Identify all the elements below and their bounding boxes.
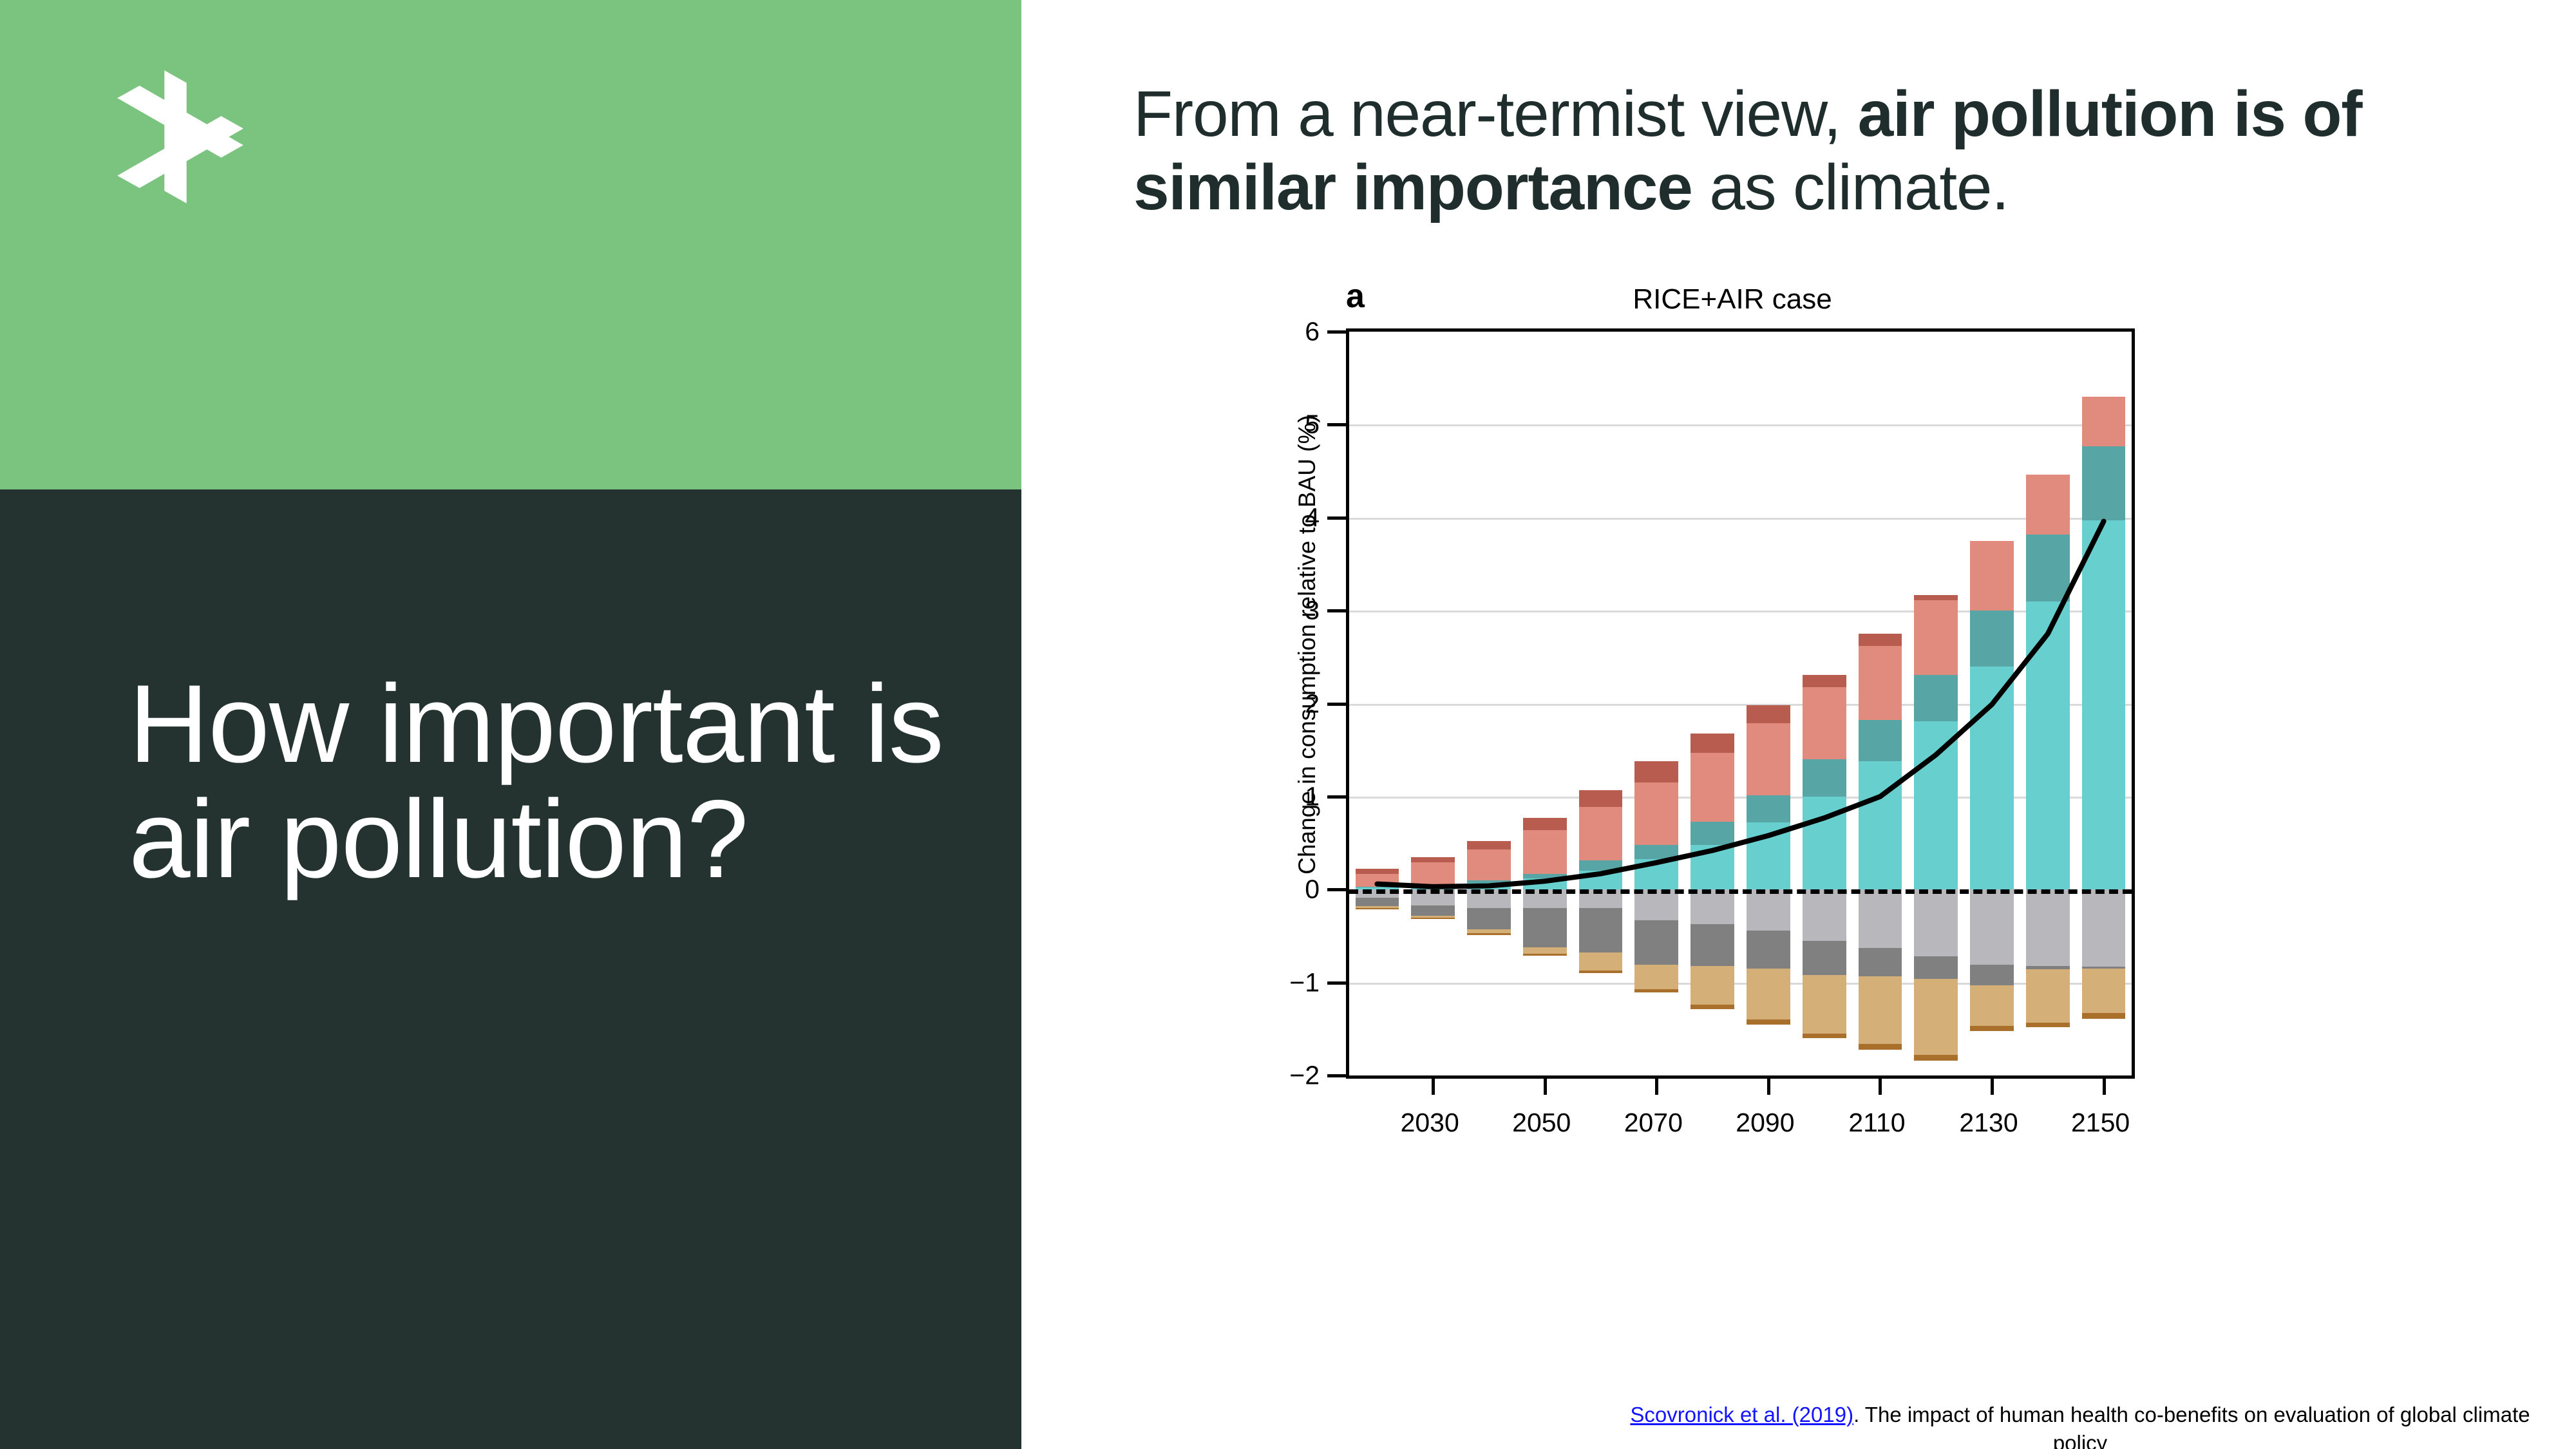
- bar-segment: [1747, 795, 1790, 822]
- bar-segment: [1690, 924, 1734, 966]
- bar-segment: [1914, 956, 1958, 979]
- y-axis-tick-label: 5: [1305, 410, 1320, 440]
- bar-segment: [2082, 446, 2126, 521]
- bar-segment: [1523, 818, 1567, 830]
- bar-segment: [1690, 734, 1734, 753]
- bar-segment: [1634, 782, 1678, 845]
- x-axis-tick: [2103, 1075, 2106, 1095]
- y-axis-tick-label: 3: [1305, 596, 1320, 626]
- bar-segment: [1467, 883, 1511, 889]
- bar-segment: [1970, 541, 2014, 611]
- y-axis-tick: [1327, 1074, 1349, 1077]
- gridline: [1349, 518, 2132, 520]
- bar-segment: [2082, 1013, 2126, 1019]
- bar-segment: [1859, 634, 1902, 646]
- bar-segment: [2026, 475, 2070, 534]
- y-axis-tick: [1327, 330, 1349, 334]
- bar-segment: [1356, 898, 1399, 906]
- bar-segment: [2026, 535, 2070, 601]
- bar-segment: [1579, 952, 1623, 970]
- bar-segment: [1803, 797, 1846, 889]
- y-axis-tick-label: 4: [1305, 502, 1320, 533]
- six-point-asterisk-logo-icon: [106, 68, 245, 206]
- bar-segment: [1747, 723, 1790, 796]
- bar-segment: [1803, 675, 1846, 687]
- y-axis-tick: [1327, 516, 1349, 520]
- figure: a RICE+AIR case Change in consumption re…: [1249, 270, 2215, 1172]
- bar-segment: [1970, 667, 2014, 890]
- bar-segment: [1747, 822, 1790, 889]
- x-axis-tick-label: 2150: [2071, 1108, 2130, 1138]
- bar-segment: [1747, 889, 1790, 931]
- bar-segment: [1859, 976, 1902, 1044]
- bar-segment: [1803, 975, 1846, 1034]
- bar-segment: [1803, 687, 1846, 760]
- y-axis-tick: [1327, 423, 1349, 426]
- bar-segment: [1634, 965, 1678, 989]
- bar-segment: [2082, 397, 2126, 446]
- bar-segment: [1467, 849, 1511, 880]
- x-axis-tick-label: 2130: [1959, 1108, 2018, 1138]
- bar-segment: [1859, 646, 1902, 721]
- headline: From a near-termist view, air pollution …: [1133, 77, 2486, 224]
- x-axis-tick: [1767, 1075, 1770, 1095]
- bar-segment: [2026, 889, 2070, 965]
- bar-segment: [1914, 721, 1958, 889]
- bar-segment: [1579, 908, 1623, 952]
- bar-segment: [1523, 874, 1567, 878]
- bar-segment: [1690, 966, 1734, 1005]
- y-axis-tick-label: 0: [1305, 875, 1320, 905]
- bar-segment: [1411, 857, 1455, 863]
- bar-segment: [1914, 1055, 1958, 1061]
- bar-segment: [1859, 720, 1902, 761]
- bar-segment: [1634, 920, 1678, 965]
- y-axis-tick-label: −1: [1289, 967, 1320, 998]
- bar-segment: [1579, 807, 1623, 861]
- headline-part2: as climate.: [1692, 151, 2009, 223]
- y-axis-tick: [1327, 703, 1349, 706]
- y-axis-tick-label: 1: [1305, 781, 1320, 811]
- y-axis-tick-label: 6: [1305, 317, 1320, 347]
- bar-segment: [1690, 845, 1734, 889]
- bar-segment: [1690, 753, 1734, 822]
- headline-part1: From a near-termist view,: [1133, 78, 1858, 150]
- bar-segment: [1859, 761, 1902, 889]
- bar-segment: [1579, 971, 1623, 973]
- x-axis-tick: [1655, 1075, 1658, 1095]
- bar-segment: [1803, 759, 1846, 797]
- bar-segment: [1914, 889, 1958, 956]
- bar-segment: [2082, 889, 2126, 967]
- bar-segment: [2082, 969, 2126, 1013]
- y-axis-tick: [1327, 795, 1349, 799]
- bar-segment: [1970, 965, 2014, 985]
- bar-segment: [1579, 790, 1623, 807]
- gridline: [1349, 611, 2132, 612]
- x-axis-tick-label: 2110: [1848, 1108, 1905, 1138]
- y-axis-tick: [1327, 609, 1349, 612]
- bar-segment: [1634, 989, 1678, 993]
- chart-title: RICE+AIR case: [1249, 283, 2215, 316]
- bar-segment: [2026, 1023, 2070, 1027]
- citation-text: . The impact of human health co-benefits…: [1853, 1403, 2530, 1449]
- x-axis-tick: [1544, 1075, 1547, 1095]
- slide: How important is air pollution? From a n…: [0, 0, 2576, 1449]
- bar-segment: [1747, 969, 1790, 1019]
- bar-segment: [1859, 1044, 1902, 1050]
- y-axis-tick: [1327, 888, 1349, 891]
- x-axis-tick-label: 2050: [1512, 1108, 1571, 1138]
- bar-segment: [1411, 905, 1455, 916]
- bar-segment: [1356, 887, 1399, 887]
- bar-segment: [1579, 871, 1623, 889]
- x-axis-tick-label: 2090: [1736, 1108, 1794, 1138]
- x-axis-tick: [1879, 1075, 1882, 1095]
- bar-segment: [1579, 860, 1623, 871]
- bar-segment: [1356, 869, 1399, 873]
- gridline: [1349, 983, 2132, 985]
- bar-segment: [1690, 889, 1734, 923]
- bar-segment: [1411, 918, 1455, 920]
- page-title: How important is air pollution?: [129, 667, 966, 897]
- bar-segment: [1970, 985, 2014, 1027]
- bar-segment: [1523, 908, 1567, 947]
- bar-segment: [1467, 880, 1511, 883]
- sidebar-dark-band: [0, 489, 1021, 1449]
- bar-segment: [1747, 705, 1790, 723]
- bar-segment: [1970, 889, 2014, 965]
- bar-segment: [1356, 908, 1399, 909]
- bar-segment: [1356, 874, 1399, 887]
- bar-segment: [2026, 601, 2070, 890]
- x-axis-tick-label: 2030: [1401, 1108, 1459, 1138]
- bar-segment: [1914, 600, 1958, 675]
- x-axis-tick-label: 2070: [1624, 1108, 1683, 1138]
- bar-segment: [1523, 947, 1567, 954]
- bar-segment: [1914, 595, 1958, 601]
- bar-segment: [1859, 889, 1902, 948]
- bar-segment: [1747, 931, 1790, 969]
- bar-segment: [1803, 1034, 1846, 1038]
- citation: Scovronick et al. (2019). The impact of …: [1629, 1401, 2531, 1449]
- bar-segment: [2026, 969, 2070, 1022]
- bar-segment: [1523, 830, 1567, 874]
- bar-segment: [1803, 941, 1846, 975]
- y-axis-tick-label: 2: [1305, 688, 1320, 719]
- bar-segment: [1634, 889, 1678, 920]
- bar-segment: [1970, 611, 2014, 667]
- bar-segment: [1803, 889, 1846, 940]
- plot-area: 6543210−1−2: [1346, 328, 2135, 1079]
- bar-segment: [1914, 675, 1958, 721]
- gridline: [1349, 704, 2132, 706]
- bar-segment: [1467, 933, 1511, 935]
- bar-segment: [1634, 859, 1678, 890]
- x-axis-tick: [1991, 1075, 1994, 1095]
- bar-segment: [1859, 948, 1902, 976]
- bar-segment: [1467, 908, 1511, 929]
- sidebar: How important is air pollution?: [0, 0, 1021, 1449]
- bar-segment: [1970, 1026, 2014, 1030]
- bar-segment: [1411, 884, 1455, 886]
- gridline: [1349, 424, 2132, 426]
- citation-link[interactable]: Scovronick et al. (2019): [1630, 1403, 1853, 1426]
- y-axis-tick: [1327, 981, 1349, 985]
- bar-segment: [1690, 1005, 1734, 1009]
- bar-segment: [1467, 841, 1511, 849]
- bar-segment: [1747, 1019, 1790, 1024]
- bar-segment: [1914, 979, 1958, 1055]
- zero-line: [1349, 889, 2132, 894]
- gridline: [1349, 797, 2132, 799]
- x-axis-tick: [1432, 1075, 1435, 1095]
- bar-segment: [2082, 520, 2126, 889]
- bar-segment: [1634, 761, 1678, 782]
- bar-segment: [1523, 878, 1567, 889]
- y-axis-tick-label: −2: [1289, 1061, 1320, 1091]
- bar-segment: [1634, 845, 1678, 859]
- bar-segment: [1411, 862, 1455, 884]
- bar-segment: [1523, 954, 1567, 956]
- bar-segment: [1690, 822, 1734, 845]
